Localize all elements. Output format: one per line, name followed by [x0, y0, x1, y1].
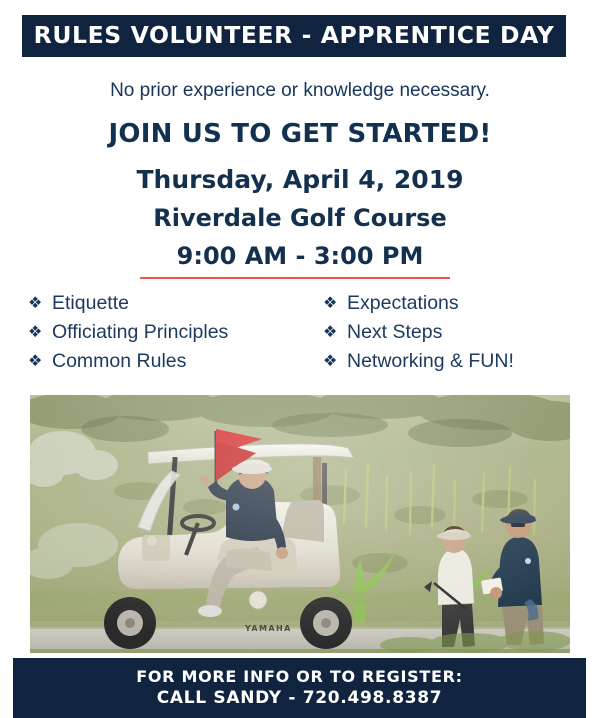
diamond-bullet-icon: ❖	[28, 288, 52, 317]
topics-list: ❖ Etiquette ❖ Officiating Principles ❖ C…	[0, 289, 600, 376]
topics-column-left: ❖ Etiquette ❖ Officiating Principles ❖ C…	[28, 289, 305, 376]
list-item-label: Next Steps	[347, 318, 442, 347]
event-date: Thursday, April 4, 2019	[0, 166, 600, 194]
list-item: ❖ Etiquette	[28, 289, 305, 318]
intro-text: No prior experience or knowledge necessa…	[0, 80, 600, 103]
list-item: ❖ Common Rules	[28, 347, 305, 376]
list-item: ❖ Networking & FUN!	[323, 347, 582, 376]
diamond-bullet-icon: ❖	[323, 346, 347, 375]
diamond-bullet-icon: ❖	[323, 288, 347, 317]
event-location: Riverdale Golf Course	[0, 205, 600, 231]
flyer: RULES VOLUNTEER - APPRENTICE DAY No prio…	[0, 0, 600, 718]
list-item-label: Common Rules	[52, 347, 186, 376]
list-item-label: Officiating Principles	[52, 318, 228, 347]
headline-text: JOIN US TO GET STARTED!	[0, 120, 600, 149]
diamond-bullet-icon: ❖	[323, 317, 347, 346]
event-time: 9:00 AM - 3:00 PM	[0, 243, 600, 269]
footer-banner: FOR MORE INFO OR TO REGISTER: CALL SANDY…	[13, 658, 586, 718]
topics-column-right: ❖ Expectations ❖ Next Steps ❖ Networking…	[305, 289, 582, 376]
diamond-bullet-icon: ❖	[28, 317, 52, 346]
list-item-label: Networking & FUN!	[347, 347, 514, 376]
header-title: RULES VOLUNTEER - APPRENTICE DAY	[34, 24, 555, 48]
event-photo: YAMAHA	[30, 395, 570, 653]
list-item: ❖ Expectations	[323, 289, 582, 318]
list-item-label: Etiquette	[52, 289, 129, 318]
header-banner: RULES VOLUNTEER - APPRENTICE DAY	[22, 15, 566, 57]
section-divider	[140, 277, 450, 279]
footer-info-line: FOR MORE INFO OR TO REGISTER:	[136, 666, 463, 688]
list-item: ❖ Next Steps	[323, 318, 582, 347]
footer-contact-line: CALL SANDY - 720.498.8387	[157, 687, 443, 710]
event-photo-image: YAMAHA	[30, 395, 570, 653]
list-item: ❖ Officiating Principles	[28, 318, 305, 347]
diamond-bullet-icon: ❖	[28, 346, 52, 375]
list-item-label: Expectations	[347, 289, 459, 318]
